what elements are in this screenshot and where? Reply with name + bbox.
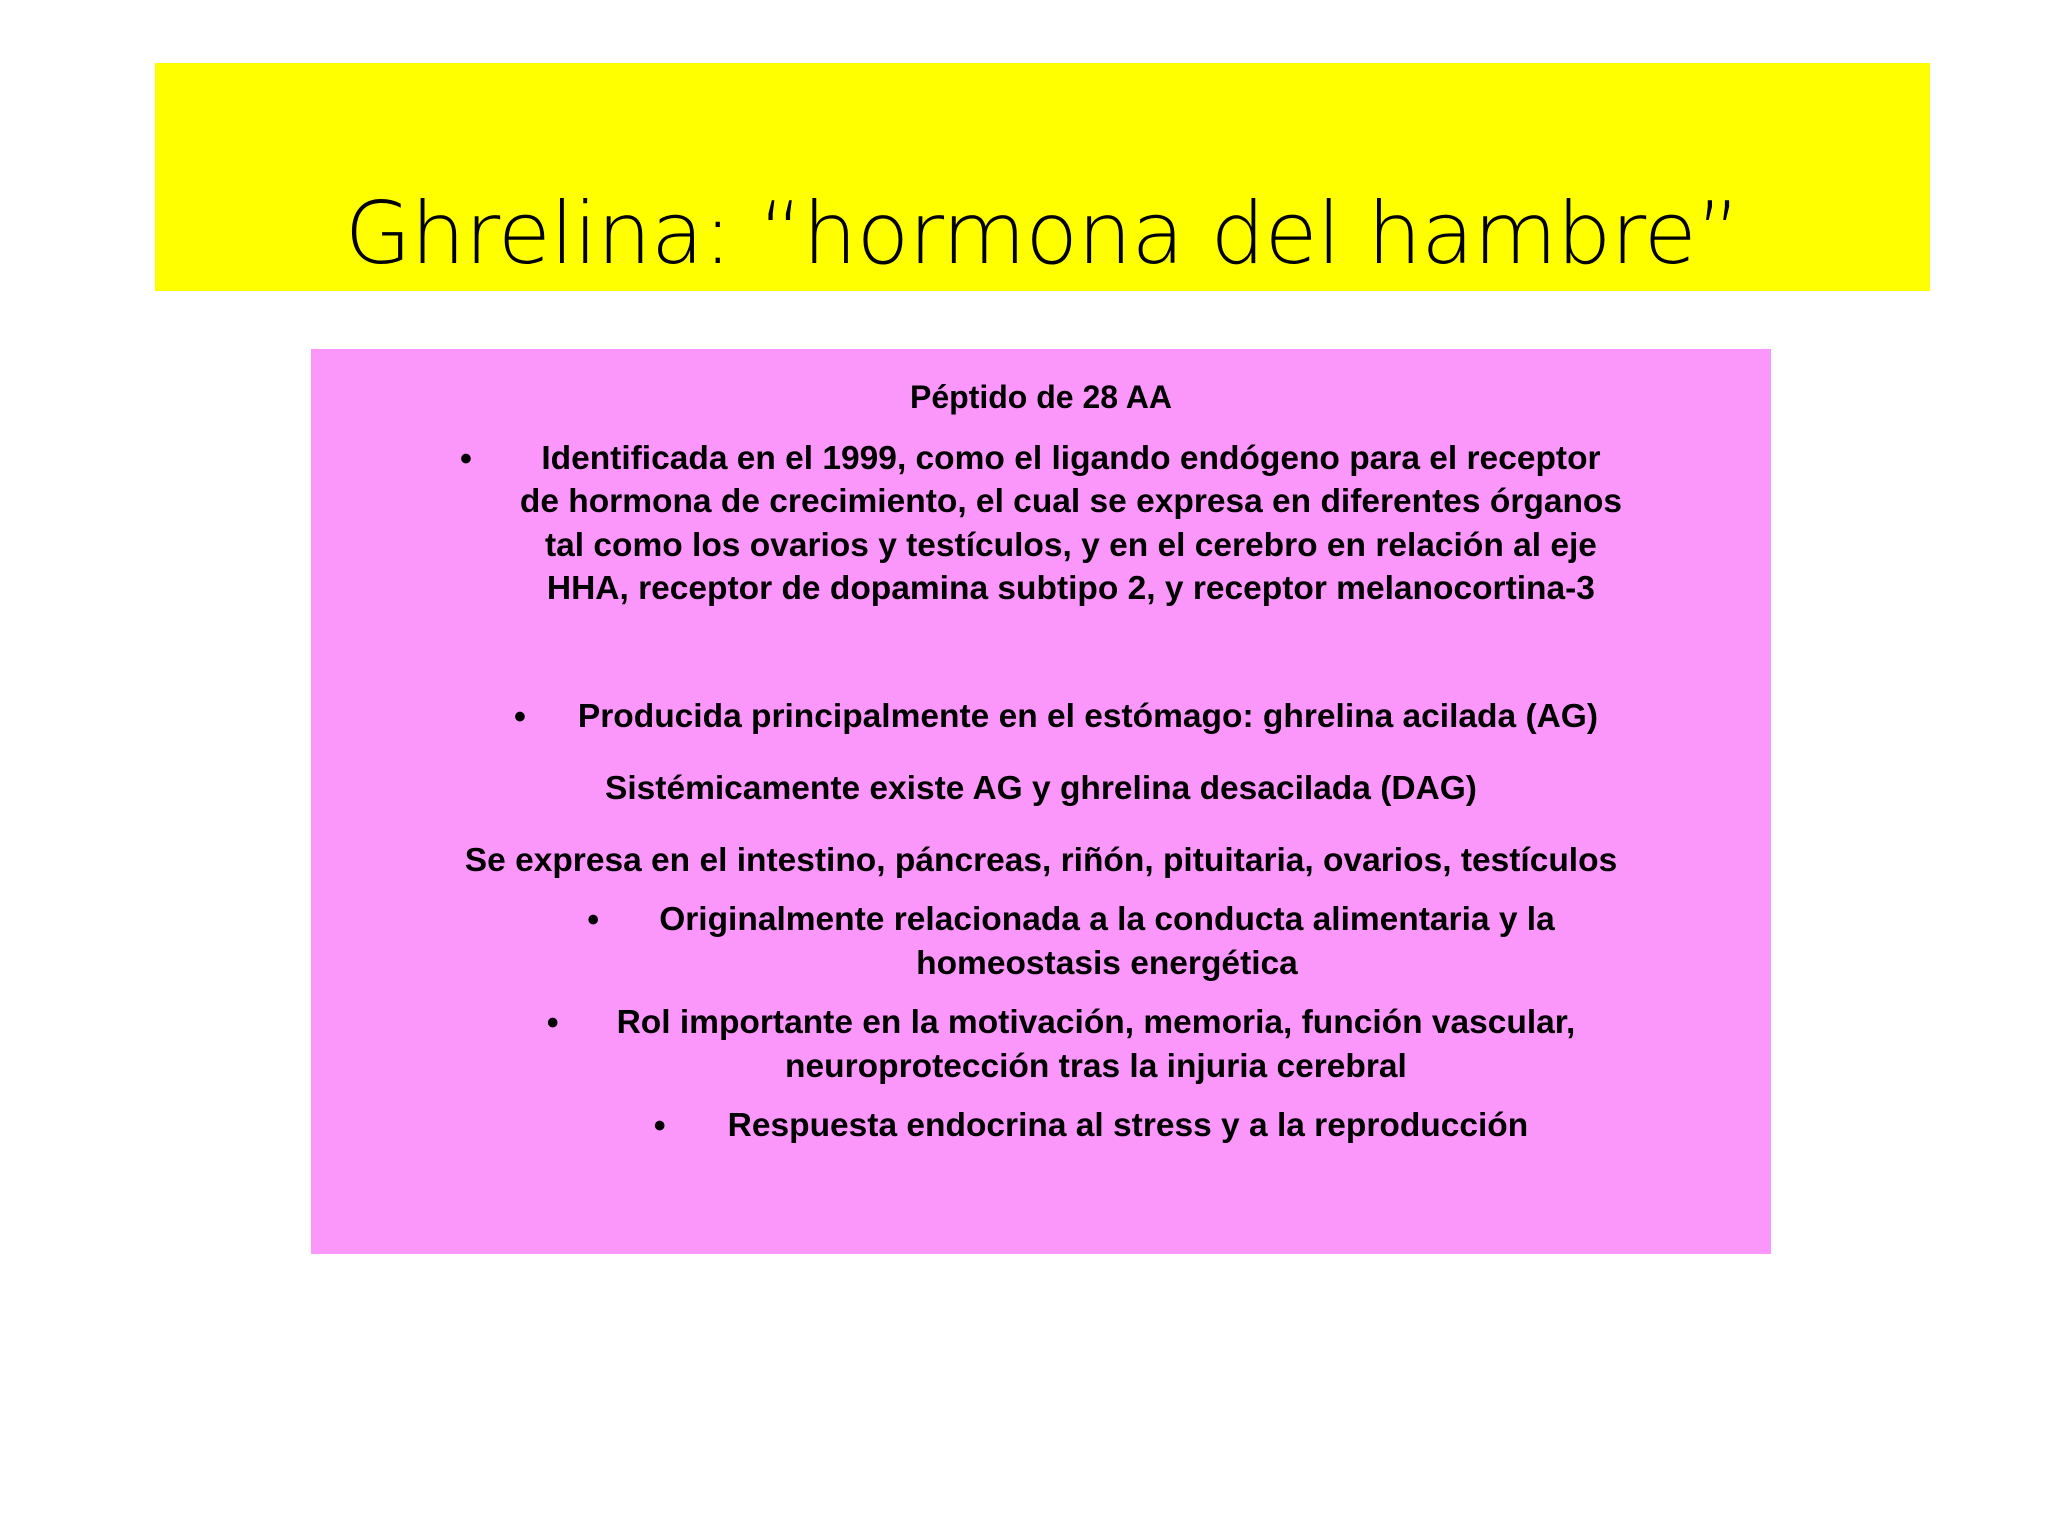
bullet-text: Identificada en el 1999, como el ligando… <box>520 437 1622 611</box>
bullet-dot-icon: • <box>654 1104 666 1148</box>
bullet-dot-icon: • <box>460 437 472 481</box>
bullet-item-originalmente: • Originalmente relacionada a la conduct… <box>325 898 1757 985</box>
bullet-text: Respuesta endocrina al stress y a la rep… <box>728 1104 1529 1148</box>
bullet-text: Rol importante en la motivación, memoria… <box>617 1001 1576 1088</box>
content-heading: Péptido de 28 AA <box>325 377 1757 419</box>
bullet-line: Rol importante en la motivación, memoria… <box>617 1001 1576 1045</box>
bullet-line: homeostasis energética <box>659 942 1555 986</box>
bullet-item-rol-importante: • Rol importante en la motivación, memor… <box>325 1001 1757 1088</box>
text-line-sistemicamente: Sistémicamente existe AG y ghrelina desa… <box>325 767 1757 811</box>
bullet-text: Originalmente relacionada a la conducta … <box>659 898 1555 985</box>
text-line-se-expresa: Se expresa en el intestino, páncreas, ri… <box>325 839 1757 883</box>
content-box: Péptido de 28 AA • Identificada en el 19… <box>311 349 1771 1254</box>
bullet-text: Producida principalmente en el estómago:… <box>578 695 1598 739</box>
bullet-line: de hormona de crecimiento, el cual se ex… <box>520 480 1622 524</box>
spacer <box>325 739 1757 767</box>
spacer <box>325 811 1757 839</box>
spacer <box>325 611 1757 695</box>
spacer <box>325 1088 1757 1104</box>
bullet-line: tal como los ovarios y testículos, y en … <box>520 524 1622 568</box>
bullet-item-respuesta: • Respuesta endocrina al stress y a la r… <box>325 1104 1757 1148</box>
bullet-line: neuroprotección tras la injuria cerebral <box>617 1045 1576 1089</box>
bullet-dot-icon: • <box>514 695 526 739</box>
title-banner: Ghrelina: “hormona del hambre” <box>155 63 1930 291</box>
page-title: Ghrelina: “hormona del hambre” <box>345 189 1741 279</box>
bullet-item-identificada: • Identificada en el 1999, como el ligan… <box>325 437 1757 611</box>
bullet-dot-icon: • <box>547 1001 559 1045</box>
spacer <box>325 985 1757 1001</box>
bullet-dot-icon: • <box>587 898 599 942</box>
bullet-line: HHA, receptor de dopamina subtipo 2, y r… <box>520 567 1622 611</box>
spacer <box>325 882 1757 898</box>
bullet-line: Identificada en el 1999, como el ligando… <box>520 437 1622 481</box>
bullet-line: Originalmente relacionada a la conducta … <box>659 898 1555 942</box>
bullet-item-producida: • Producida principalmente en el estómag… <box>325 695 1757 739</box>
